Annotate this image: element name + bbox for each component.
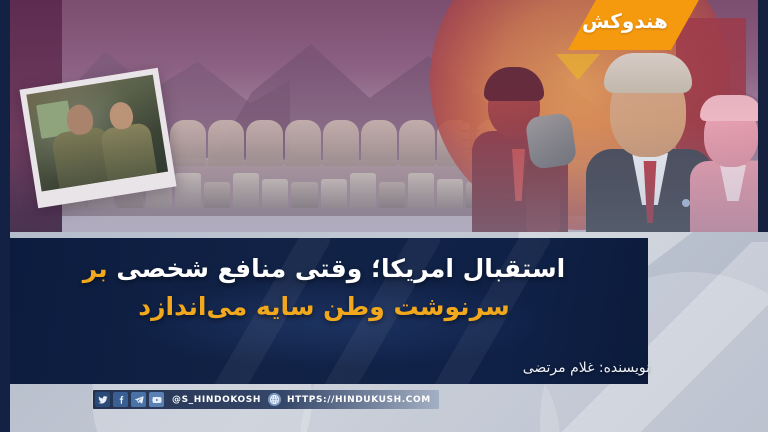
telegram-icon[interactable] bbox=[131, 392, 146, 407]
facebook-icon[interactable] bbox=[113, 392, 128, 407]
page-title: استقبال امریکا؛ وقتی منافع شخصی بر سرنوش… bbox=[0, 250, 648, 326]
left-edge-strip bbox=[0, 0, 10, 432]
polaroid-photo-officers bbox=[26, 75, 168, 192]
footer-social-bar: @S_HINDOKOSH HTTPS://HINDUKUSH.COM bbox=[93, 390, 439, 409]
headline-line-1: استقبال امریکا؛ وقتی منافع شخصی bbox=[116, 254, 565, 283]
brand-logo[interactable]: هندوکش bbox=[582, 9, 668, 33]
author-byline: نویسنده: غلام مرتضی bbox=[523, 360, 650, 376]
headline-accent-word: بر bbox=[83, 254, 108, 283]
globe-icon bbox=[268, 393, 281, 406]
polaroid-photo-frame bbox=[19, 68, 176, 208]
youtube-icon[interactable] bbox=[149, 392, 164, 407]
website-url: HTTPS://HINDUKUSH.COM bbox=[287, 395, 431, 405]
twitter-icon[interactable] bbox=[95, 392, 110, 407]
social-handle: @S_HINDOKOSH bbox=[172, 395, 261, 405]
right-edge-strip bbox=[758, 0, 768, 245]
news-card: استقبال امریکا؛ وقتی منافع شخصی بر سرنوش… bbox=[0, 0, 768, 432]
officer-body bbox=[99, 122, 157, 183]
headline-line-2: سرنوشت وطن سایه می‌اندازد bbox=[138, 292, 509, 321]
logo-dot-icon bbox=[668, 13, 681, 26]
